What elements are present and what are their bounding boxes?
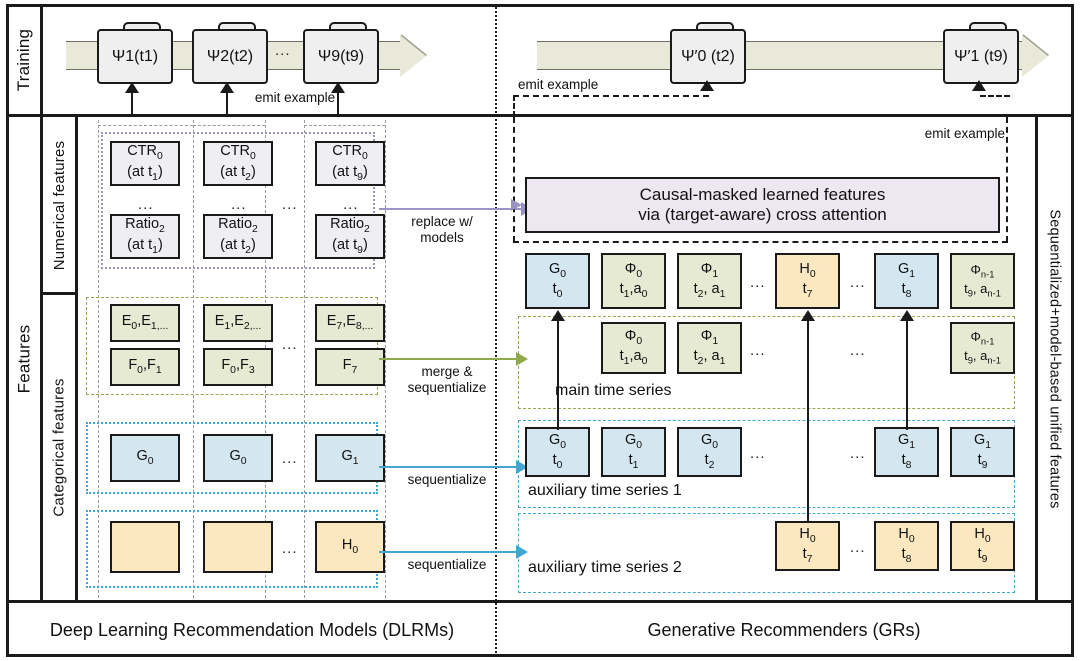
aux2-token-1-name: H0 — [898, 526, 914, 546]
row-label-numerical-text: Numerical features — [51, 140, 68, 269]
feature-column-top-1 — [193, 125, 265, 126]
main-series-token-1-time: t2, a1 — [694, 348, 726, 368]
sub: 2 — [245, 244, 251, 255]
categorical-cell-g-1[interactable]: G0 — [203, 434, 273, 482]
numerical-cell-ratio-t9-time: (at t9) — [332, 237, 368, 257]
categorical-cell-h-2-label: H0 — [342, 537, 358, 557]
sub: 9 — [982, 460, 988, 471]
training-band-right-arrowhead — [1022, 35, 1048, 77]
sub: 0 — [642, 356, 648, 367]
sub: 0 — [642, 289, 648, 300]
numerical-cell-ratio-t9-name: Ratio2 — [330, 216, 370, 236]
divider-training-features — [6, 114, 1074, 117]
sub: 8,... — [356, 321, 373, 332]
unified-token-2-time: t2, a1 — [694, 281, 726, 301]
sub: n-1 — [981, 270, 995, 280]
sub: 2 — [709, 460, 715, 471]
categorical-cell-e-0[interactable]: E0,E1,... — [110, 304, 180, 342]
sub: 0 — [636, 440, 642, 451]
sub: 7 — [336, 321, 342, 332]
aux1-token-4-time: t9 — [978, 452, 988, 472]
aux1-to-unified-head-0 — [551, 310, 565, 321]
emit-arrow-head-right-1 — [972, 80, 986, 91]
sub: 8 — [906, 289, 912, 300]
aux1-token-0[interactable]: G0 t0 — [525, 427, 590, 477]
causal-masked-line2: via (target-aware) cross attention — [638, 205, 887, 225]
feature-column-top-0 — [98, 125, 193, 126]
row-label-unified: Sequentialized+model-based unified featu… — [1037, 117, 1073, 600]
main-series-token-1-name: Φ1 — [701, 328, 718, 348]
aux-time-series-2-group — [518, 513, 1015, 593]
gr-emit-frame-left — [513, 117, 515, 242]
causal-box-inbound-arrow — [511, 199, 522, 211]
sub: 1 — [909, 269, 915, 280]
categorical-cell-h-2[interactable]: H0 — [315, 521, 385, 573]
categorical-cell-g-0-label: G0 — [136, 448, 153, 468]
numerical-vertical-ellipsis-2: ... — [343, 196, 359, 213]
sub: 1 — [624, 356, 630, 367]
sub: 1 — [985, 440, 991, 451]
aux-time-series-2-label: auxiliary time series 2 — [528, 558, 778, 577]
numerical-cell-ctr-t2-time: (at t2) — [220, 164, 256, 184]
replace-arrow-label: replace w/ models — [382, 214, 502, 246]
sub: n-1 — [987, 356, 1001, 366]
unified-token-2-name: Φ1 — [701, 261, 718, 281]
main-series-token-0-time: t1,a0 — [620, 348, 648, 368]
unified-token-5-name: Φn-1 — [971, 262, 995, 281]
aux2-token-2-name: H0 — [974, 526, 990, 546]
emit-example-label-right-top: emit example — [518, 77, 628, 93]
row-label-features: Features — [6, 117, 42, 600]
sub: 0 — [230, 365, 236, 376]
categorical-cell-f-1-label: F0,F3 — [221, 357, 254, 377]
aux2-token-0-name: H0 — [799, 526, 815, 546]
aux1-to-unified-stem-1 — [906, 318, 908, 430]
unified-token-3-time: t7 — [803, 281, 813, 301]
unified-token-2[interactable]: Φ1 t2, a1 — [677, 253, 742, 309]
main-series-token-2-time: t9, an-1 — [964, 348, 1001, 367]
numerical-cell-ctr-t1-name: CTR0 — [127, 143, 163, 163]
numerical-cell-ratio-t1[interactable]: Ratio2 (at t1) — [110, 214, 180, 259]
sub: 1 — [720, 356, 726, 367]
unified-token-5[interactable]: Φn-1 t9, an-1 — [950, 253, 1015, 309]
numerical-cell-ctr-t1[interactable]: CTR0 (at t1) — [110, 141, 180, 186]
training-node-2[interactable]: Ψ9(t9) — [303, 22, 375, 80]
sub: 1 — [152, 171, 158, 182]
sub: 0 — [560, 269, 566, 280]
merge-arrow-line — [379, 358, 518, 360]
main-time-series-label: main time series — [555, 381, 735, 400]
categorical-cell-h-1[interactable] — [203, 521, 273, 573]
sub: 0 — [250, 151, 256, 162]
numerical-cell-ctr-t1-time: (at t1) — [127, 164, 163, 184]
sequentialize2-arrow-label: sequentialize — [382, 557, 512, 573]
main-series-token-0[interactable]: Φ0 t1,a0 — [601, 322, 666, 374]
feature-column-top-2 — [304, 125, 385, 126]
numerical-cell-ratio-t2-name: Ratio2 — [218, 216, 258, 236]
training-node-prime-1-label: Ψ′1 (t9) — [943, 29, 1019, 84]
causal-masked-line1: Causal-masked learned features — [640, 185, 886, 205]
aux1-token-2-time: t2 — [705, 452, 715, 472]
causal-masked-features-box[interactable]: Causal-masked learned features via (targ… — [525, 177, 1000, 233]
row-label-training: Training — [6, 4, 42, 116]
aux1-token-2-name: G0 — [701, 432, 718, 452]
sub: 2 — [698, 289, 704, 300]
numerical-cell-ratio-t2-time: (at t2) — [220, 237, 256, 257]
unified-token-1-time: t1,a0 — [620, 281, 648, 301]
aux1-token-0-name: G0 — [549, 432, 566, 452]
sub: 8 — [906, 554, 912, 565]
sub: 9 — [982, 554, 988, 565]
sub: 0 — [148, 456, 154, 467]
aux1-token-4[interactable]: G1 t9 — [950, 427, 1015, 477]
numerical-cell-ctr-t9-time: (at t9) — [332, 164, 368, 184]
emit-dashed-line-right-1 — [980, 95, 1010, 97]
aux1-token-1-name: G0 — [625, 432, 642, 452]
sub: 1 — [156, 365, 162, 376]
aux1-ellipsis-1: ... — [850, 445, 866, 462]
training-node-prime-0[interactable]: Ψ′0 (t2) — [670, 22, 742, 80]
sub: n-1 — [981, 337, 995, 347]
aux1-token-1-time: t1 — [629, 452, 639, 472]
unified-token-0[interactable]: G0 t0 — [525, 253, 590, 309]
sub: 1 — [720, 289, 726, 300]
unified-token-4-name: G1 — [898, 261, 915, 281]
numerical-cell-ratio-t2[interactable]: Ratio2 (at t2) — [203, 214, 273, 259]
aux1-token-3[interactable]: G1 t8 — [874, 427, 939, 477]
sub: 0 — [712, 440, 718, 451]
sub: 1 — [353, 456, 359, 467]
sub: 1 — [224, 321, 230, 332]
sub: 0 — [557, 289, 563, 300]
sub: n-1 — [987, 289, 1001, 299]
sub: 7 — [352, 365, 358, 376]
emit-arrow-head-1 — [220, 82, 234, 93]
categorical-cell-e-0-label: E0,E1,... — [122, 313, 169, 333]
sub: 9 — [968, 289, 973, 299]
aux1-token-4-name: G1 — [974, 432, 991, 452]
unified-token-0-time: t0 — [553, 281, 563, 301]
categorical-cell-f-2-label: F7 — [343, 357, 358, 377]
sub: 0 — [137, 365, 143, 376]
sequentialize2-arrow-line — [379, 551, 518, 553]
numerical-cell-ratio-t1-time: (at t1) — [127, 237, 163, 257]
numerical-cell-ratio-t1-name: Ratio2 — [125, 216, 165, 236]
categorical-cell-e-2[interactable]: E7,E8,... — [315, 304, 385, 342]
sub: 1 — [633, 460, 639, 471]
categorical-cell-e-1-label: E1,E2,... — [215, 313, 262, 333]
unified-token-3[interactable]: H0 t7 — [775, 253, 840, 309]
unified-ellipsis-0: ... — [750, 274, 766, 291]
categorical-cell-g-2[interactable]: G1 — [315, 434, 385, 482]
replace-arrow-line — [379, 208, 523, 210]
sequentialize1-arrow-label: sequentialize — [382, 472, 512, 488]
sub: 0 — [636, 336, 642, 347]
emit-arrow-head-right-0 — [700, 80, 714, 91]
sub: 0 — [810, 269, 816, 280]
row-label-training-text: Training — [14, 29, 34, 91]
unified-token-4-time: t8 — [902, 281, 912, 301]
gr-emit-frame-bottom — [513, 241, 1008, 243]
categorical-cell-f-0[interactable]: F0,F1 — [110, 348, 180, 386]
emit-example-label-left: emit example — [240, 90, 350, 106]
sub: 7 — [807, 554, 813, 565]
training-node-1[interactable]: Ψ2(t2) — [192, 22, 264, 80]
aux2-token-2-time: t9 — [978, 546, 988, 566]
training-node-0[interactable]: Ψ1(t1) — [97, 22, 169, 80]
main-series-token-2-name: Φn-1 — [971, 329, 995, 348]
replace-arrow-label-l1: replace w/ — [411, 214, 473, 229]
sub: 9 — [357, 244, 363, 255]
aux2-token-1-time: t8 — [902, 546, 912, 566]
aux2-token-0[interactable]: H0 t7 — [775, 521, 840, 571]
main-series-ellipsis-1: ... — [850, 342, 866, 359]
merge-arrow-label-l1: merge & — [421, 364, 472, 379]
aux2-to-unified-head-0 — [801, 310, 815, 321]
sub: 0 — [157, 151, 163, 162]
sub: 1 — [152, 244, 158, 255]
sub: 2 — [364, 224, 370, 235]
sub: 1 — [712, 269, 718, 280]
sub: 0 — [131, 321, 137, 332]
aux1-token-3-time: t8 — [902, 452, 912, 472]
training-band-left-arrowhead — [400, 35, 426, 77]
sub: 0 — [636, 269, 642, 280]
aux1-token-1[interactable]: G0 t1 — [601, 427, 666, 477]
training-node-prime-1[interactable]: Ψ′1 (t9) — [943, 22, 1015, 80]
sub: 0 — [362, 151, 368, 162]
training-node-0-label: Ψ1(t1) — [97, 29, 173, 84]
categorical-cell-g-0[interactable]: G0 — [110, 434, 180, 482]
row-label-numerical: Numerical features — [42, 117, 77, 293]
sub: 3 — [249, 365, 255, 376]
categorical-cell-f-0-label: F0,F1 — [128, 357, 161, 377]
emit-dashed-riser-right-0 — [513, 95, 515, 117]
numerical-vertical-ellipsis-1: ... — [231, 196, 247, 213]
aux1-token-3-name: G1 — [898, 432, 915, 452]
main-series-token-2[interactable]: Φn-1 t9, an-1 — [950, 322, 1015, 374]
training-ellipsis-left: ... — [275, 42, 291, 59]
sub: 0 — [810, 534, 816, 545]
unified-token-5-time: t9, an-1 — [964, 281, 1001, 300]
emit-dashed-line-right-0 — [513, 95, 709, 97]
numerical-cell-ratio-t9[interactable]: Ratio2 (at t9) — [315, 214, 385, 259]
categorical-g-ellipsis: ... — [282, 450, 298, 467]
sub: 0 — [985, 534, 991, 545]
main-series-token-0-name: Φ0 — [625, 328, 642, 348]
categorical-ef-ellipsis: ... — [282, 336, 298, 353]
numerical-cell-ctr-t2[interactable]: CTR0 (at t2) — [203, 141, 273, 186]
emit-arrow-stem-1 — [226, 90, 228, 117]
aux1-to-unified-stem-0 — [557, 318, 559, 430]
sub: 0 — [560, 440, 566, 451]
replace-arrow-label-l2: models — [420, 230, 464, 245]
sub: 0 — [557, 460, 563, 471]
merge-arrow-label-l2: sequentialize — [408, 380, 487, 395]
emit-arrow-stem-0 — [131, 90, 133, 117]
aux2-ellipsis-0: ... — [850, 539, 866, 556]
categorical-cell-h-0[interactable] — [110, 521, 180, 573]
caption-dlrm: Deep Learning Recommendation Models (DLR… — [9, 603, 495, 657]
sub: 2 — [252, 224, 258, 235]
categorical-cell-e-1[interactable]: E1,E2,... — [203, 304, 273, 342]
aux1-token-2[interactable]: G0 t2 — [677, 427, 742, 477]
numerical-cell-ctr-t9-name: CTR0 — [332, 143, 368, 163]
sub: 2 — [698, 356, 704, 367]
row-label-features-text: Features — [14, 324, 34, 393]
aux1-to-unified-head-1 — [900, 310, 914, 321]
sub: 1,... — [151, 321, 168, 332]
sub: 0 — [352, 545, 358, 556]
categorical-cell-g-2-label: G1 — [341, 448, 358, 468]
aux2-token-1[interactable]: H0 t8 — [874, 521, 939, 571]
unified-token-0-name: G0 — [549, 261, 566, 281]
unified-ellipsis-1: ... — [850, 274, 866, 291]
caption-gr: Generative Recommenders (GRs) — [497, 603, 1071, 657]
unified-token-3-name: H0 — [799, 261, 815, 281]
row-label-unified-text: Sequentialized+model-based unified featu… — [1047, 209, 1063, 508]
training-node-2-label: Ψ9(t9) — [303, 29, 379, 84]
sub: 1 — [909, 440, 915, 451]
main-series-ellipsis-0: ... — [750, 342, 766, 359]
numerical-cell-ctr-t2-name: CTR0 — [220, 143, 256, 163]
training-node-prime-0-label: Ψ′0 (t2) — [670, 29, 746, 84]
unified-token-1-name: Φ0 — [625, 261, 642, 281]
categorical-cell-f-2[interactable]: F7 — [315, 348, 385, 386]
aux2-token-2[interactable]: H0 t9 — [950, 521, 1015, 571]
aux2-to-unified-stem-0 — [807, 318, 809, 523]
sub: 2,... — [244, 321, 261, 332]
merge-arrow-label: merge & sequentialize — [382, 364, 512, 396]
categorical-h-ellipsis: ... — [282, 540, 298, 557]
sub: 0 — [909, 534, 915, 545]
numerical-column-ellipsis: ... — [282, 196, 298, 213]
aux1-token-0-time: t0 — [553, 452, 563, 472]
unified-token-1[interactable]: Φ0 t1,a0 — [601, 253, 666, 309]
sub: 7 — [807, 289, 813, 300]
numerical-cell-ctr-t9[interactable]: CTR0 (at t9) — [315, 141, 385, 186]
diagram-root: Training Features Numerical features Cat… — [0, 0, 1080, 661]
sub: 2 — [245, 171, 251, 182]
row-label-categorical-text: Categorical features — [51, 378, 68, 516]
categorical-cell-f-1[interactable]: F0,F3 — [203, 348, 273, 386]
training-node-1-label: Ψ2(t2) — [192, 29, 268, 84]
sub: 0 — [241, 456, 247, 467]
unified-token-4[interactable]: G1 t8 — [874, 253, 939, 309]
gr-emit-example-label: emit example — [900, 126, 1005, 142]
numerical-vertical-ellipsis-0: ... — [138, 196, 154, 213]
row-label-categorical: Categorical features — [42, 295, 77, 600]
sub: 9 — [357, 171, 363, 182]
categorical-cell-e-2-label: E7,E8,... — [327, 313, 374, 333]
aux-time-series-1-label: auxiliary time series 1 — [528, 481, 778, 500]
sequentialize1-arrow-line — [379, 466, 518, 468]
sub: 9 — [968, 356, 973, 366]
sub: 8 — [906, 460, 912, 471]
aux1-ellipsis-0: ... — [750, 445, 766, 462]
gr-emit-frame-right — [1006, 117, 1008, 242]
emit-arrow-head-0 — [125, 82, 139, 93]
main-series-token-1[interactable]: Φ1 t2, a1 — [677, 322, 742, 374]
categorical-cell-g-1-label: G0 — [229, 448, 246, 468]
sub: 1 — [624, 289, 630, 300]
sub: 1 — [712, 336, 718, 347]
sub: 2 — [159, 224, 165, 235]
aux2-token-0-time: t7 — [803, 546, 813, 566]
